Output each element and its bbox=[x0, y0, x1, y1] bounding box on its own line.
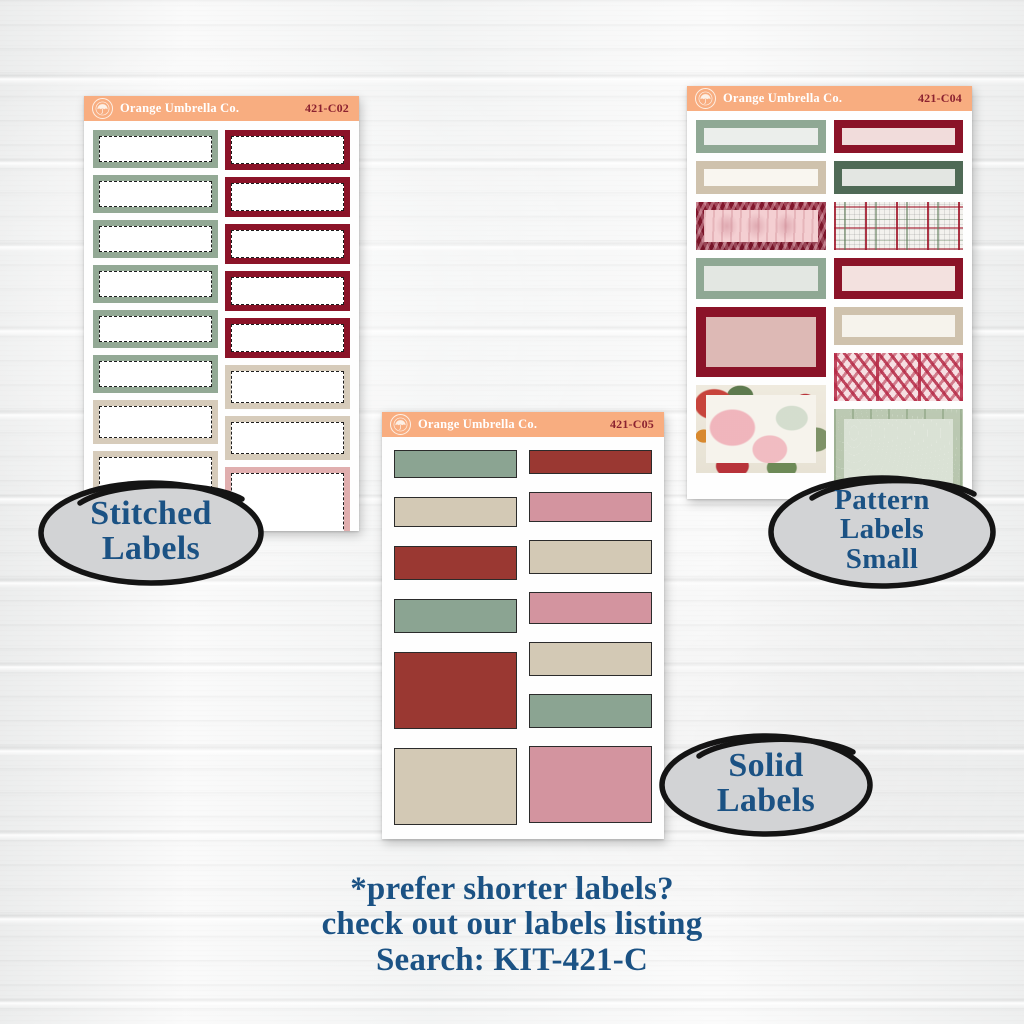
badge-solid-text: Solid Labels bbox=[717, 749, 815, 818]
solid-label[interactable] bbox=[394, 450, 517, 478]
stitched-inner bbox=[99, 226, 212, 252]
stitched-inner bbox=[99, 361, 212, 387]
brand-name-c05: Orange Umbrella Co. bbox=[418, 417, 610, 432]
pattern-label-frame-sage[interactable] bbox=[696, 258, 826, 299]
stitched-label[interactable] bbox=[93, 310, 218, 348]
solid-label[interactable] bbox=[394, 546, 517, 580]
pattern-label-frame-tan-2[interactable] bbox=[834, 307, 964, 345]
stitched-inner bbox=[99, 271, 212, 297]
umbrella-in-circle-icon bbox=[92, 98, 113, 119]
label-inner bbox=[842, 169, 956, 186]
pattern-label-chevron-stripe[interactable] bbox=[834, 353, 964, 401]
stitched-label[interactable] bbox=[225, 177, 350, 217]
stitched-inner bbox=[231, 324, 344, 352]
promo-line-1: *prefer shorter labels? bbox=[0, 872, 1024, 907]
sheet-body-c04 bbox=[687, 111, 972, 499]
stitched-label[interactable] bbox=[93, 265, 218, 303]
solid-label[interactable] bbox=[529, 540, 652, 574]
pattern-label-frame-green[interactable] bbox=[696, 120, 826, 153]
sticker-sheet-c04[interactable]: Orange Umbrella Co. 421-C04 bbox=[687, 86, 972, 499]
label-grid-c02 bbox=[93, 130, 350, 531]
stitched-label[interactable] bbox=[225, 130, 350, 170]
umbrella-in-circle-icon bbox=[695, 88, 716, 109]
label-column-left-c04 bbox=[696, 120, 826, 497]
label-inner bbox=[842, 266, 956, 291]
stitched-label[interactable] bbox=[93, 400, 218, 444]
sku-c02: 421-C02 bbox=[305, 101, 349, 116]
sku-c04: 421-C04 bbox=[918, 91, 962, 106]
label-inner bbox=[706, 317, 816, 367]
stitched-inner bbox=[99, 181, 212, 207]
label-column-left-c05 bbox=[394, 450, 517, 825]
badge-stitched-labels[interactable]: Stitched Labels bbox=[36, 477, 266, 587]
stitched-label[interactable] bbox=[225, 271, 350, 311]
label-grid-c04 bbox=[696, 120, 963, 497]
badge-stitched-text: Stitched Labels bbox=[90, 497, 211, 566]
stitched-label[interactable] bbox=[225, 365, 350, 409]
label-column-right-c04 bbox=[834, 120, 964, 497]
pattern-label-frame-red-2[interactable] bbox=[834, 258, 964, 299]
pattern-label-frame-darkgreen[interactable] bbox=[834, 161, 964, 194]
solid-label[interactable] bbox=[529, 592, 652, 624]
pattern-label-poinsettia-floral[interactable] bbox=[696, 385, 826, 473]
stitched-inner bbox=[231, 183, 344, 211]
label-column-left-c02 bbox=[93, 130, 218, 531]
pattern-label-tartan-plaid[interactable] bbox=[834, 202, 964, 250]
label-grid-c05 bbox=[394, 450, 652, 825]
stitched-label[interactable] bbox=[93, 130, 218, 168]
sku-c05: 421-C05 bbox=[610, 417, 654, 432]
sheet-header-c04: Orange Umbrella Co. 421-C04 bbox=[687, 86, 972, 111]
stitched-inner bbox=[99, 136, 212, 162]
sticker-sheet-c05[interactable]: Orange Umbrella Co. 421-C05 bbox=[382, 412, 664, 839]
sheet-body-c05 bbox=[382, 437, 664, 838]
stitched-inner bbox=[231, 422, 344, 454]
promo-line-3: Search: KIT-421-C bbox=[0, 943, 1024, 978]
solid-label[interactable] bbox=[529, 492, 652, 522]
sticker-sheet-c02[interactable]: Orange Umbrella Co. 421-C02 bbox=[84, 96, 359, 531]
stitched-label[interactable] bbox=[225, 416, 350, 460]
solid-label[interactable] bbox=[394, 599, 517, 633]
pattern-label-frame-crimson[interactable] bbox=[696, 307, 826, 377]
label-inner bbox=[842, 128, 956, 145]
pattern-label-frame-tan[interactable] bbox=[696, 161, 826, 194]
badge-pattern-text: Pattern Labels Small bbox=[834, 486, 930, 575]
stitched-label[interactable] bbox=[225, 318, 350, 358]
stitched-inner bbox=[231, 136, 344, 164]
solid-label[interactable] bbox=[394, 497, 517, 527]
label-inner bbox=[704, 128, 818, 145]
promo-text: *prefer shorter labels? check out our la… bbox=[0, 872, 1024, 978]
pattern-label-crimson-damask[interactable] bbox=[696, 202, 826, 250]
stitched-label[interactable] bbox=[225, 224, 350, 264]
brand-name-c04: Orange Umbrella Co. bbox=[723, 91, 918, 106]
sheet-header-c02: Orange Umbrella Co. 421-C02 bbox=[84, 96, 359, 121]
stitched-inner bbox=[231, 277, 344, 305]
badge-solid-labels[interactable]: Solid Labels bbox=[657, 730, 875, 838]
stitched-label[interactable] bbox=[93, 175, 218, 213]
solid-label[interactable] bbox=[529, 642, 652, 676]
stitched-inner bbox=[99, 316, 212, 342]
badge-pattern-labels-small[interactable]: Pattern Labels Small bbox=[766, 470, 998, 590]
solid-label[interactable] bbox=[394, 748, 517, 825]
pattern-label-frame-red[interactable] bbox=[834, 120, 964, 153]
solid-label[interactable] bbox=[394, 652, 517, 729]
label-inner bbox=[842, 315, 956, 337]
solid-label[interactable] bbox=[529, 694, 652, 728]
label-inner bbox=[704, 210, 818, 242]
stitched-label[interactable] bbox=[93, 355, 218, 393]
brand-name-c02: Orange Umbrella Co. bbox=[120, 101, 305, 116]
solid-label[interactable] bbox=[529, 450, 652, 474]
promo-line-2: check out our labels listing bbox=[0, 907, 1024, 942]
stitched-inner bbox=[231, 230, 344, 258]
label-column-right-c02 bbox=[225, 130, 350, 531]
umbrella-in-circle-icon bbox=[390, 414, 411, 435]
label-column-right-c05 bbox=[529, 450, 652, 825]
stitched-label[interactable] bbox=[93, 220, 218, 258]
label-inner bbox=[704, 266, 818, 291]
solid-label[interactable] bbox=[529, 746, 652, 823]
label-inner bbox=[706, 395, 816, 463]
sheet-body-c02 bbox=[84, 121, 359, 531]
stitched-inner bbox=[231, 371, 344, 403]
stitched-inner bbox=[99, 406, 212, 438]
sheet-header-c05: Orange Umbrella Co. 421-C05 bbox=[382, 412, 664, 437]
label-inner bbox=[704, 169, 818, 186]
